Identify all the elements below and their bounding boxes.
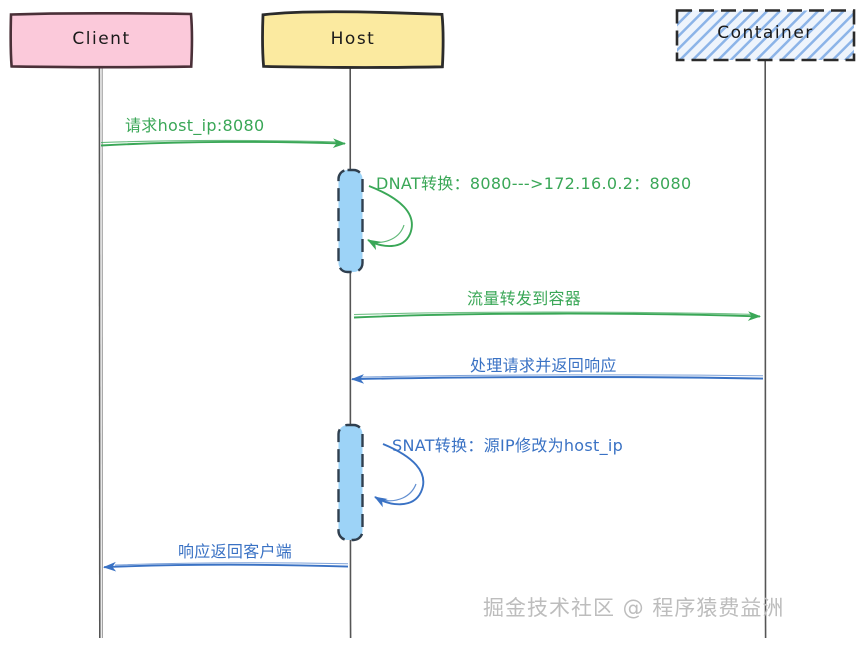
sequence-diagram-canvas: Client Host Container 请求host_ip:8080 DNA… xyxy=(0,0,866,645)
message-arrow-m2-self xyxy=(368,186,412,246)
watermark: 掘金技术社区 @ 程序猿费益洲 xyxy=(483,592,784,622)
message-label-request-host-ip: 请求host_ip:8080 xyxy=(125,112,264,136)
message-label-snat-translation: SNAT转换：源IP修改为host_ip xyxy=(392,432,623,456)
message-arrow-m3 xyxy=(354,312,760,317)
message-label-response-to-client: 响应返回客户端 xyxy=(178,538,292,562)
message-label-handle-and-respond: 处理请求并返回响应 xyxy=(470,352,617,376)
participant-label-client: Client xyxy=(11,29,192,49)
message-label-forward-to-container: 流量转发到容器 xyxy=(467,285,581,309)
participant-label-container: Container xyxy=(677,23,854,43)
message-label-dnat-translation: DNAT转换：8080--->172.16.0.2：8080 xyxy=(376,170,691,194)
participant-label-host: Host xyxy=(262,29,444,49)
activation-box-dnat xyxy=(339,170,363,272)
activation-box-snat xyxy=(339,425,363,540)
lifeline-client xyxy=(99,68,102,638)
message-arrow-m1 xyxy=(101,141,345,146)
message-arrow-m6 xyxy=(104,563,348,567)
diagram-vector-layer xyxy=(0,0,866,645)
